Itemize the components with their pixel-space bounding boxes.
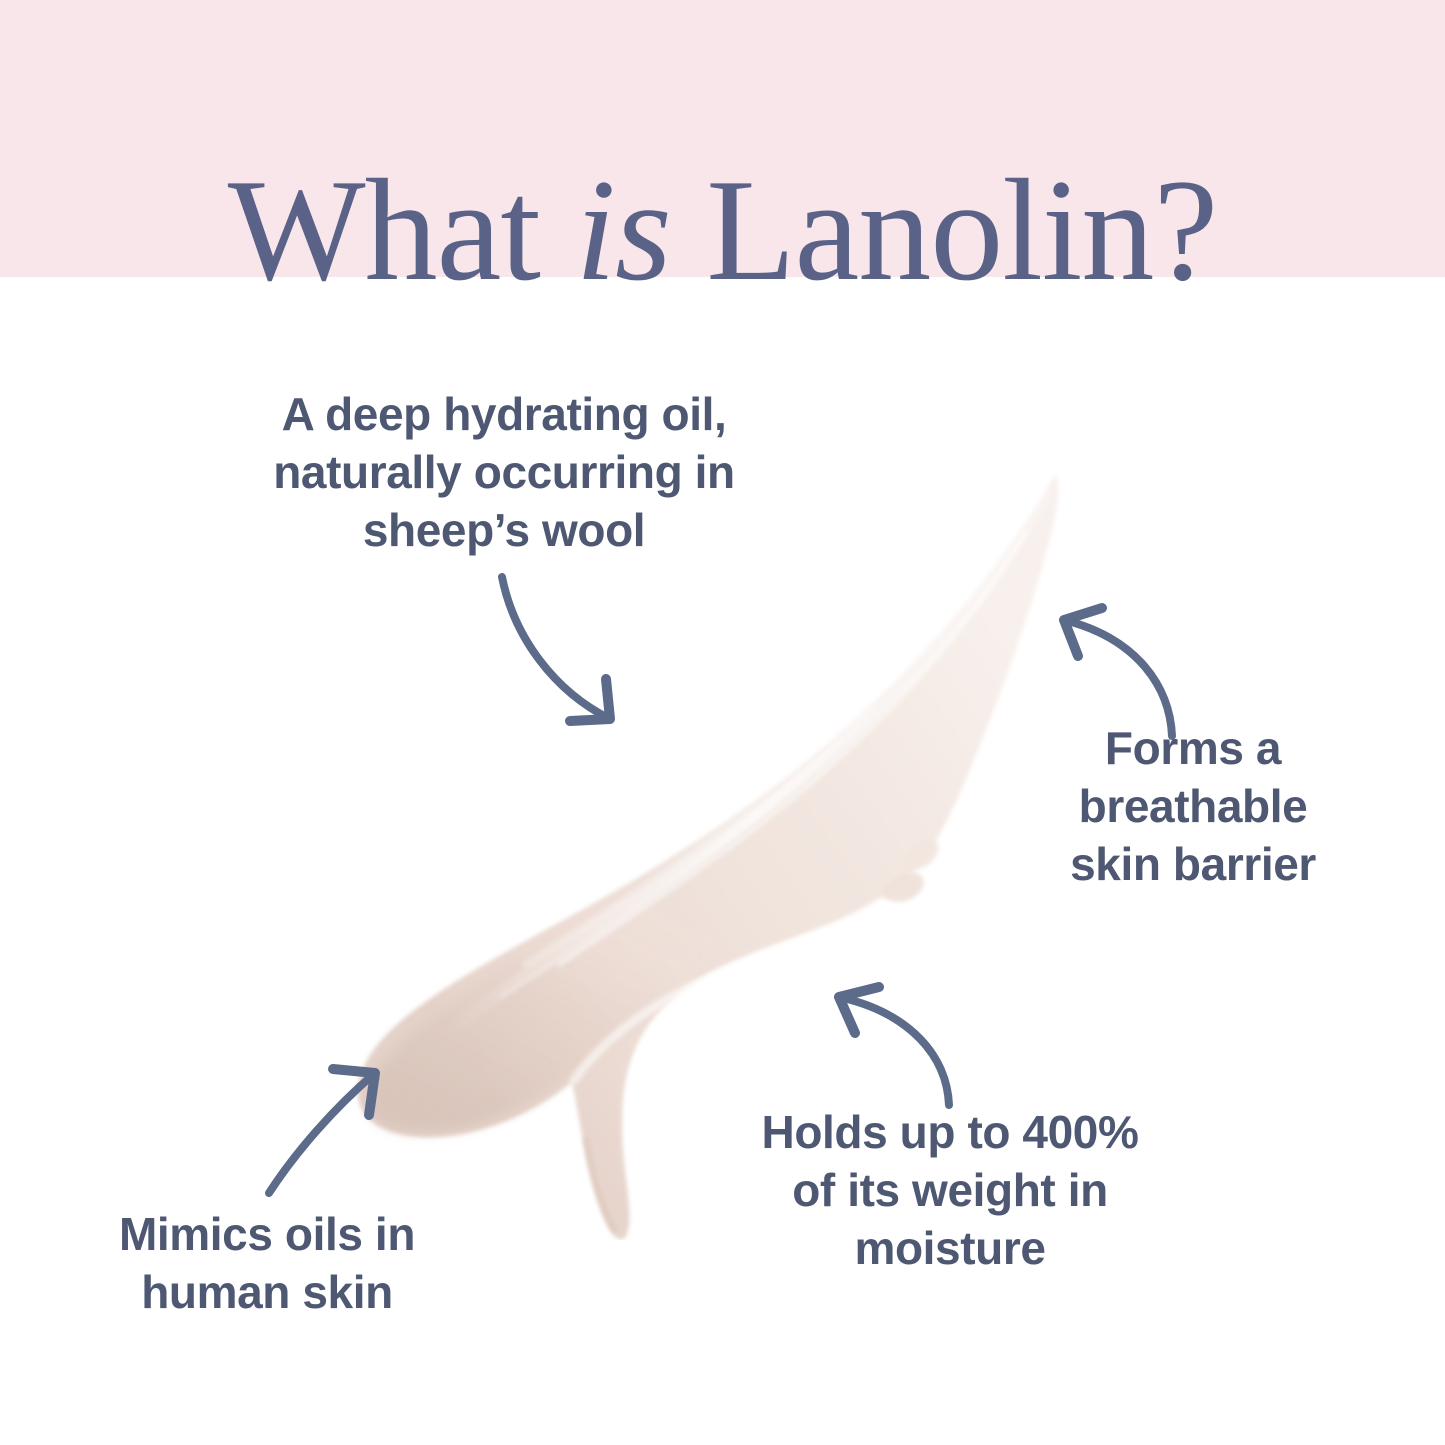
- page-title-part2: Lanolin?: [671, 149, 1217, 311]
- page-title: What is Lanolin?: [0, 154, 1445, 307]
- callout-line: Mimics oils in: [52, 1206, 482, 1264]
- callout-line: moisture: [690, 1220, 1210, 1278]
- callout-line: skin barrier: [1028, 836, 1358, 894]
- curved-arrow-up-right-icon: [235, 1025, 435, 1215]
- callout-line: of its weight in: [690, 1162, 1210, 1220]
- callout-line: Forms a: [1028, 720, 1358, 778]
- lanolin-infographic: What is Lanolin?: [0, 0, 1445, 1445]
- callout-line: naturally occurring in: [196, 444, 812, 502]
- callout-line: human skin: [52, 1264, 482, 1322]
- page-title-part1: What: [228, 149, 576, 311]
- callout-skin-barrier: Forms a breathable skin barrier: [1028, 720, 1358, 894]
- callout-line: sheep’s wool: [196, 502, 812, 560]
- callout-hydrating-oil: A deep hydrating oil, naturally occurrin…: [196, 386, 812, 560]
- callout-moisture-retention: Holds up to 400% of its weight in moistu…: [690, 1104, 1210, 1278]
- callout-line: A deep hydrating oil,: [196, 386, 812, 444]
- callout-line: breathable: [1028, 778, 1358, 836]
- callout-mimics-skin-oils: Mimics oils in human skin: [52, 1206, 482, 1322]
- curved-arrow-down-right-icon: [470, 545, 670, 745]
- callout-line: Holds up to 400%: [690, 1104, 1210, 1162]
- page-title-emphasis: is: [575, 149, 670, 311]
